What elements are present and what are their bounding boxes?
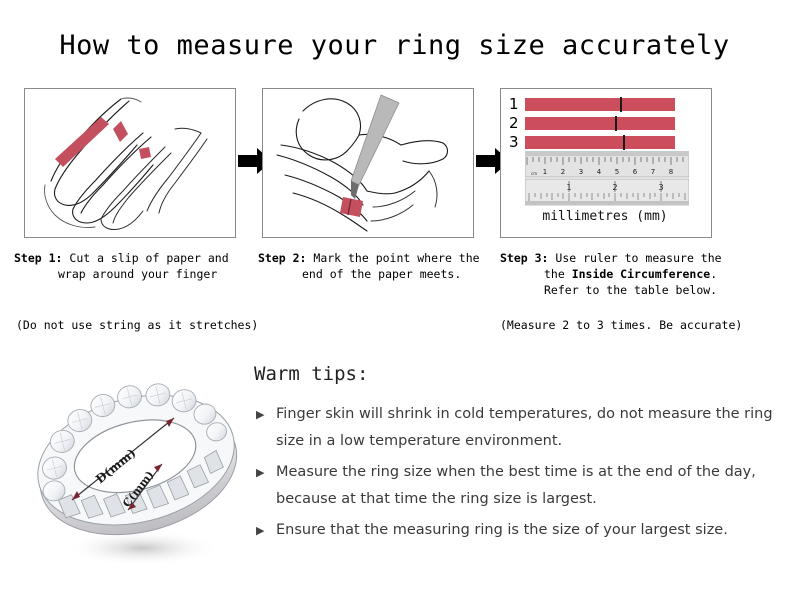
measured-strip-row: 1 — [509, 97, 675, 112]
step-3-text-line3: Refer to the table below. — [500, 282, 748, 298]
svg-text:1: 1 — [543, 168, 547, 176]
step-3-text-line1: Use ruler to measure the — [548, 251, 721, 265]
tip-item: ▶ Measure the ring size when the best ti… — [254, 459, 774, 513]
tip-item: ▶ Ensure that the measuring ring is the … — [254, 517, 774, 544]
ring-body — [22, 364, 250, 554]
strip-mark-3 — [623, 135, 625, 150]
paper-slip-shape — [55, 117, 151, 167]
strip-mark-2 — [615, 116, 617, 131]
bullet-triangle-icon: ▶ — [256, 401, 264, 428]
step-2-illustration-panel — [262, 88, 474, 238]
step-3-measure-panel: 1 2 3 — [500, 88, 712, 238]
strip-number-label: 3 — [509, 135, 525, 150]
step-3-text-line2: the — [544, 267, 572, 281]
strip-mark-1 — [620, 97, 622, 112]
ring-shadow — [64, 530, 220, 566]
step-3-label: Step 3: — [500, 251, 548, 265]
step-3-note: (Measure 2 to 3 times. Be accurate) — [500, 318, 742, 332]
ruler-unit-label: millimetres (mm) — [501, 209, 709, 224]
step-3-text-line2-end: . — [710, 267, 717, 281]
ruler-image: 123 456 78 cm 123 — [525, 151, 689, 206]
step-1-illustration-panel — [24, 88, 236, 238]
svg-text:3: 3 — [579, 168, 583, 176]
paper-strip-3 — [525, 136, 675, 149]
hand-with-paper-slip-illustration — [25, 89, 233, 235]
ring-diameter-diagram: D(mm) C(mm) — [22, 352, 252, 582]
tip-text: Measure the ring size when the best time… — [276, 464, 756, 507]
step-2-caption: Step 2: Mark the point where the end of … — [258, 250, 506, 282]
measured-strip-row: 3 — [509, 135, 675, 150]
svg-text:4: 4 — [597, 168, 602, 176]
strip-number-label: 2 — [509, 116, 525, 131]
paper-strip-2 — [525, 117, 675, 130]
step-1-text-line1: Cut a slip of paper and — [62, 251, 228, 265]
svg-text:5: 5 — [615, 168, 619, 176]
tip-text: Finger skin will shrink in cold temperat… — [276, 406, 773, 449]
inside-circumference-emphasis: Inside Circumference — [572, 267, 710, 281]
svg-text:cm: cm — [531, 171, 537, 176]
step-1-note: (Do not use string as it stretches) — [16, 318, 258, 332]
steps-panel-row: 1 2 3 — [0, 88, 789, 238]
paper-strip-1 — [525, 98, 675, 111]
step-2-label: Step 2: — [258, 251, 306, 265]
warm-tips-section: Warm tips: ▶ Finger skin will shrink in … — [254, 363, 774, 548]
page-title: How to measure your ring size accurately — [0, 30, 789, 61]
step-2-text-line2: end of the paper meets. — [258, 266, 506, 282]
strip-number-label: 1 — [509, 97, 525, 112]
svg-text:6: 6 — [633, 168, 638, 176]
pen-shape — [351, 95, 399, 199]
step-captions-row: Step 1: Cut a slip of paper and wrap aro… — [0, 250, 789, 340]
warm-tips-heading: Warm tips: — [254, 363, 774, 385]
bullet-triangle-icon: ▶ — [256, 459, 264, 486]
step-3-caption: Step 3: Use ruler to measure the the Ins… — [500, 250, 748, 298]
tip-text: Ensure that the measuring ring is the si… — [276, 522, 728, 538]
step-1-caption: Step 1: Cut a slip of paper and wrap aro… — [14, 250, 262, 282]
svg-text:7: 7 — [651, 168, 655, 176]
tip-item: ▶ Finger skin will shrink in cold temper… — [254, 401, 774, 455]
step-2-text-line1: Mark the point where the — [306, 251, 479, 265]
measured-strip-row: 2 — [509, 116, 675, 131]
step-1-text-line2: wrap around your finger — [14, 266, 262, 282]
svg-text:2: 2 — [561, 168, 565, 176]
step-1-label: Step 1: — [14, 251, 62, 265]
svg-text:8: 8 — [669, 168, 673, 176]
hand-marking-paper-illustration — [263, 89, 471, 235]
bullet-triangle-icon: ▶ — [256, 517, 264, 544]
